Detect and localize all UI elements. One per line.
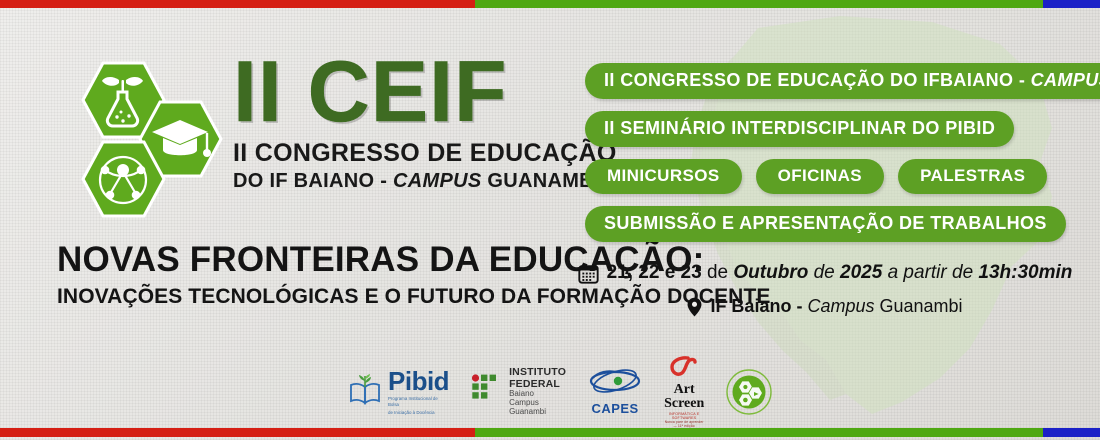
place-campus: Campus — [807, 296, 874, 316]
subtitle-pre: DO IF BAIANO - — [233, 170, 393, 192]
artscreen-sub2: Nunca pare de aprender — 11ª edição — [664, 420, 704, 428]
mini-stripe-top — [57, 232, 507, 236]
sponsor-logos: Pibid Programa Institucional de Bolsa de… — [348, 363, 768, 421]
badge-row: MINICURSOS OFICINAS PALESTRAS — [585, 159, 1055, 194]
mini-stripe-green — [207, 232, 357, 236]
logo-instituto-federal: INSTITUTO FEDERAL Baiano Campus Guanambi — [471, 367, 566, 417]
mini-stripe-red — [57, 325, 207, 329]
logo-pibid: Pibid Programa Institucional de Bolsa de… — [348, 368, 449, 416]
pibid-sub-line2: de Iniciação à Docência — [388, 410, 449, 416]
badge-row: II CONGRESSO DE EDUCAÇÃO DO IFBAIANO - C… — [585, 63, 1055, 99]
stripe-segment-green — [475, 0, 1043, 8]
date-text: 21, 22 e 23 de Outubro de 2025 a partir … — [607, 262, 1073, 284]
pibid-book-icon — [348, 373, 382, 412]
logo-artscreen: Art Screen INFORMÁTICA E SOFTWARES Nunca… — [664, 356, 704, 428]
artscreen-sub1: INFORMÁTICA E SOFTWARES — [664, 412, 704, 420]
artscreen-word: Art Screen — [664, 383, 704, 411]
if-wordmark: INSTITUTO FEDERAL Baiano Campus Guanambi — [509, 367, 566, 417]
artscreen-wordmark: Art Screen INFORMÁTICA E SOFTWARES Nunca… — [664, 356, 704, 428]
date-year: 2025 — [840, 262, 882, 283]
mini-stripe-red — [57, 232, 207, 236]
badge-text-italic: CAMPUS — [1031, 70, 1100, 90]
date-time: 13h:30min — [978, 262, 1072, 283]
mini-stripe-blue — [357, 232, 507, 236]
stripe-segment-blue — [1043, 428, 1100, 437]
date-month: Outubro — [733, 262, 808, 283]
date-apartir: a partir de — [882, 262, 978, 283]
if-line1: INSTITUTO FEDERAL — [509, 367, 566, 391]
pibid-wordmark: Pibid Programa Institucional de Bolsa de… — [388, 368, 449, 416]
ceif-hexagon-logo — [60, 58, 225, 228]
subtitle-campus: CAMPUS — [393, 170, 481, 192]
event-subtitle-line1: II CONGRESSO DE EDUCAÇÃO — [233, 140, 533, 167]
capes-orbit-icon — [588, 369, 642, 395]
badge-text: II CONGRESSO DE EDUCAÇÃO DO IFBAIANO - — [604, 70, 1031, 90]
stripe-top — [0, 0, 1100, 8]
calendar-icon — [578, 263, 599, 284]
badge-minicursos[interactable]: MINICURSOS — [585, 159, 742, 194]
capes-word: CAPES — [588, 401, 642, 416]
if-line3: Campus Guanambi — [509, 399, 566, 417]
if-grid-icon — [471, 374, 503, 409]
page-title: II CEIF — [233, 50, 533, 134]
badge-text: OFICINAS — [778, 166, 862, 185]
place-post: Guanambi — [874, 296, 962, 316]
event-banner: II CEIF II CONGRESSO DE EDUCAÇÃO DO IF B… — [0, 0, 1100, 440]
mini-stripe-blue — [357, 325, 507, 329]
alpha-icon — [664, 356, 698, 378]
date-de-1: de — [702, 262, 734, 283]
badge-palestras[interactable]: PALESTRAS — [898, 159, 1047, 194]
event-subtitle-line2: DO IF BAIANO - CAMPUS GUANAMBI — [233, 170, 533, 192]
theme-block: NOVAS FRONTEIRAS DA EDUCAÇÃO: INOVAÇÕES … — [57, 242, 527, 308]
badge-submissao[interactable]: SUBMISSÃO E APRESENTAÇÃO DE TRABALHOS — [585, 206, 1066, 242]
logo-ceif-seal — [726, 369, 772, 415]
place-text: IF Baiano - Campus Guanambi — [710, 296, 962, 317]
badge-row: II SEMINÁRIO INTERDISCIPLINAR DO PIBID — [585, 111, 1055, 147]
badge-list: II CONGRESSO DE EDUCAÇÃO DO IFBAIANO - C… — [585, 63, 1055, 254]
theme-subheadline: INOVAÇÕES TECNOLÓGICAS E O FUTURO DA FOR… — [57, 285, 527, 308]
date-line: 21, 22 e 23 de Outubro de 2025 a partir … — [585, 262, 1065, 284]
mini-stripe-green — [207, 325, 357, 329]
capes-wordmark: CAPES — [588, 369, 642, 416]
title-block: II CEIF II CONGRESSO DE EDUCAÇÃO DO IF B… — [233, 50, 533, 192]
place-line: IF Baiano - Campus Guanambi — [585, 296, 1065, 317]
map-pin-icon — [687, 297, 702, 317]
badge-congresso[interactable]: II CONGRESSO DE EDUCAÇÃO DO IFBAIANO - C… — [585, 63, 1100, 99]
logo-capes: CAPES — [588, 369, 642, 416]
badge-text: MINICURSOS — [607, 166, 720, 185]
ceif-circular-seal-icon — [726, 369, 772, 415]
badge-oficinas[interactable]: OFICINAS — [756, 159, 884, 194]
stripe-segment-red — [0, 428, 475, 437]
theme-headline: NOVAS FRONTEIRAS DA EDUCAÇÃO: — [57, 242, 527, 279]
badge-row: SUBMISSÃO E APRESENTAÇÃO DE TRABALHOS — [585, 206, 1055, 242]
event-info: 21, 22 e 23 de Outubro de 2025 a partir … — [585, 262, 1065, 317]
date-days: 21, 22 e 23 — [607, 262, 702, 283]
mini-stripe-bottom — [57, 325, 507, 329]
stripe-segment-green — [475, 428, 1043, 437]
pibid-word: Pibid — [388, 368, 449, 394]
pibid-sub-line1: Programa Institucional de Bolsa — [388, 396, 449, 408]
badge-text: PALESTRAS — [920, 166, 1025, 185]
stripe-bottom — [0, 428, 1100, 437]
badge-seminario[interactable]: II SEMINÁRIO INTERDISCIPLINAR DO PIBID — [585, 111, 1014, 147]
stripe-segment-blue — [1043, 0, 1100, 8]
date-de-2: de — [808, 262, 840, 283]
stripe-segment-red — [0, 0, 475, 8]
subtitle-post: GUANAMBI — [482, 170, 600, 192]
place-prefix: IF Baiano - — [710, 296, 807, 316]
badge-text: II SEMINÁRIO INTERDISCIPLINAR DO PIBID — [604, 118, 995, 138]
badge-text: SUBMISSÃO E APRESENTAÇÃO DE TRABALHOS — [604, 213, 1047, 233]
